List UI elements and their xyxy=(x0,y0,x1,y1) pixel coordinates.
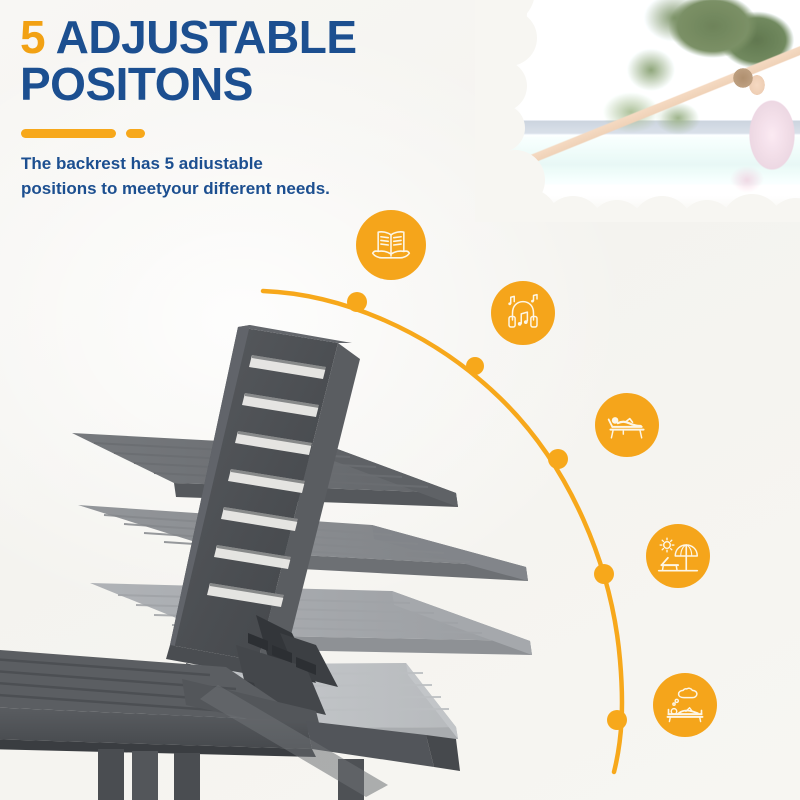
lounging-icon[interactable] xyxy=(595,393,659,457)
subtitle-line-2: positions to meetyour different needs. xyxy=(21,177,461,202)
reading-book-icon[interactable] xyxy=(356,210,426,280)
chaise-lounge-illustration xyxy=(0,315,586,800)
arc-dot-2 xyxy=(466,357,484,375)
title-line-1-text: ADJUSTABLE xyxy=(45,11,356,63)
page-title: 5 ADJUSTABLE POSITONS xyxy=(20,14,490,108)
infographic-page: 5 ADJUSTABLE POSITONS The backrest has 5… xyxy=(0,0,800,800)
arc-dot-4 xyxy=(594,564,614,584)
arc-dot-5 xyxy=(607,710,627,730)
page-subtitle: The backrest has 5 adiustable positions … xyxy=(21,152,461,201)
hero-photo-image xyxy=(475,0,800,222)
divider-bar xyxy=(21,129,116,138)
positions-count: 5 xyxy=(20,11,45,63)
arc-dot-3 xyxy=(548,449,568,469)
napping-icon[interactable] xyxy=(653,673,717,737)
arc-dot-1 xyxy=(347,292,367,312)
subtitle-line-1: The backrest has 5 adiustable xyxy=(21,152,461,177)
music-headphones-icon[interactable] xyxy=(491,281,555,345)
divider-dot xyxy=(126,129,145,138)
hero-photo xyxy=(475,0,800,222)
title-line-2: POSITONS xyxy=(20,61,490,108)
title-line-1: 5 ADJUSTABLE xyxy=(20,14,490,61)
sunbathing-icon[interactable] xyxy=(646,524,710,588)
title-divider xyxy=(21,129,145,138)
